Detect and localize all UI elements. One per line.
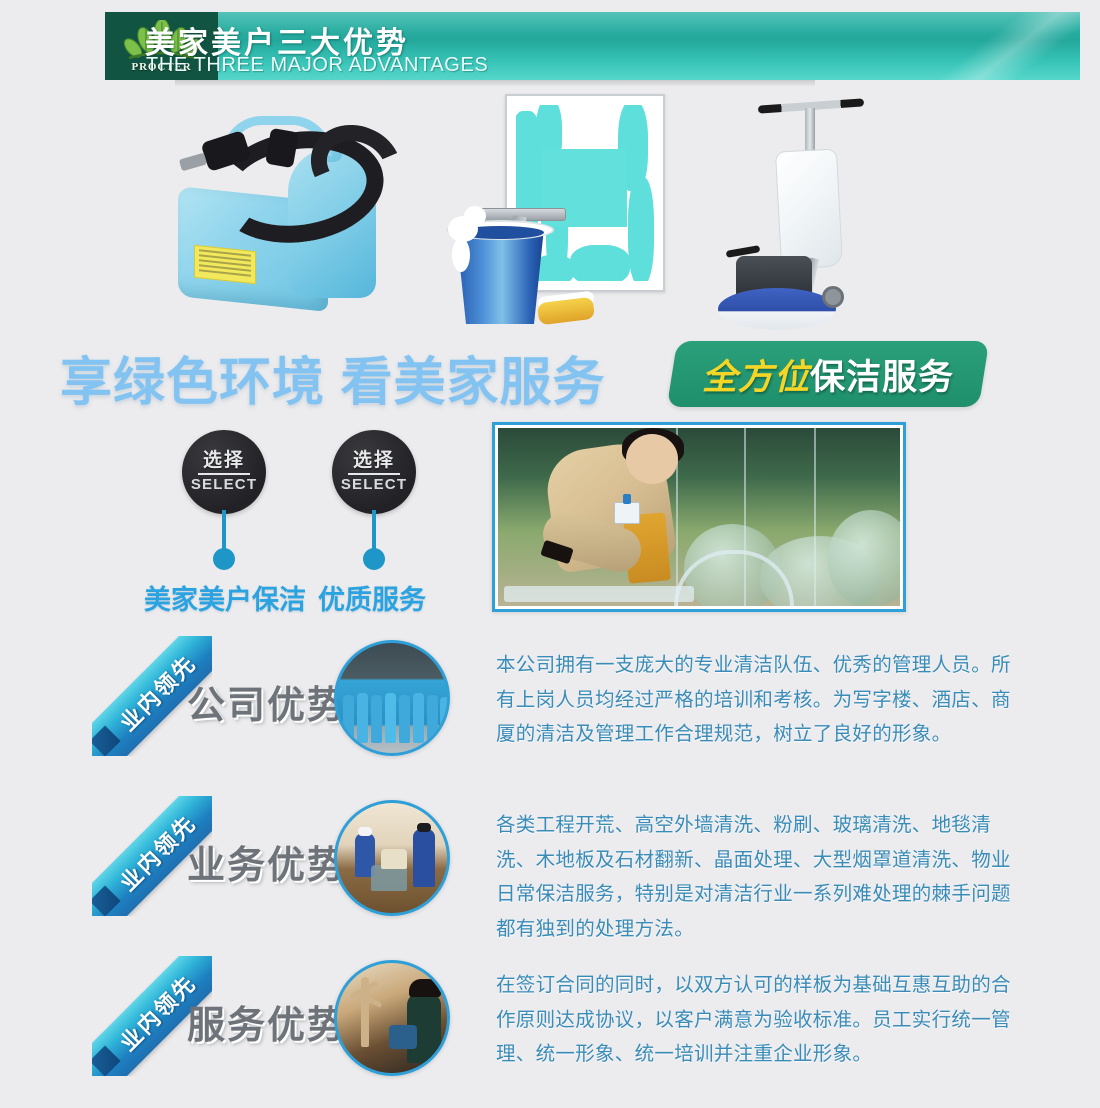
select-label-en: SELECT <box>341 476 407 493</box>
select-badge-circle[interactable]: 选择 SELECT <box>332 430 416 514</box>
advantage-title: 业务优势 <box>187 834 347 889</box>
indoor-cleaning-photo <box>334 800 450 916</box>
main-headline: 享绿色环境 看美家服务 <box>60 340 605 415</box>
ulv-sprayer-image <box>160 96 410 331</box>
glass-table <box>504 586 694 602</box>
service-badge: 全方位 保洁服务 <box>667 341 989 407</box>
badge-rest-text: 保洁服务 <box>810 349 954 400</box>
worker-badge-clip <box>623 494 631 504</box>
select-caption: 美家美户保洁 <box>144 578 306 617</box>
select-divider <box>348 473 400 475</box>
page-header: PROCTER 美家美户三大优势 THE THREE MAJOR ADVANTA… <box>0 0 1100 95</box>
window-squeegee-bucket-image <box>450 88 690 328</box>
polisher-solution-tank <box>775 148 843 269</box>
polisher-wheel <box>822 286 844 308</box>
worker-cleaning-glass-table-photo <box>492 422 906 612</box>
badge-highlight-text: 全方位 <box>702 349 810 400</box>
select-label-cn: 选择 <box>353 451 395 471</box>
floor-polisher-image <box>710 88 920 333</box>
worker-head <box>626 434 678 484</box>
advantage-title: 公司优势 <box>187 674 347 729</box>
polisher-pad-base <box>718 288 836 330</box>
worker-id-badge <box>614 502 640 524</box>
header-dropshadow <box>175 80 815 87</box>
advantage-description: 本公司拥有一支庞大的专业清洁队伍、优秀的管理人员。所有上岗人员均经过严格的培训和… <box>496 648 1012 752</box>
advantage-row-service: 业内领先 服务优势 在签订合同的同时，以双方认可的样板为基础互惠互助的合作原则达… <box>0 948 1100 1108</box>
advantage-description: 在签订合同的同时，以双方认可的样板为基础互惠互助的合作原则达成协议，以客户满意为… <box>496 968 1012 1072</box>
select-badge-circle[interactable]: 选择 SELECT <box>182 430 266 514</box>
select-pin-dot <box>213 548 235 570</box>
select-label-cn: 选择 <box>203 451 245 471</box>
sprayer-spec-label <box>194 245 256 285</box>
select-divider <box>198 473 250 475</box>
product-image-row <box>0 88 1100 338</box>
select-caption: 优质服务 <box>318 578 426 617</box>
sprayer-plug <box>179 153 207 172</box>
staff-lineup-photo <box>334 640 450 756</box>
advantage-title: 服务优势 <box>187 994 347 1049</box>
advantage-row-company: 业内领先 公司优势 本公司拥有一支庞大的专业清洁队伍、优秀的管理人员。所有上岗人… <box>0 628 1100 788</box>
select-pin-dot <box>363 548 385 570</box>
select-label-en: SELECT <box>191 476 257 493</box>
spray-cleaning-photo <box>334 960 450 1076</box>
advantage-row-business: 业内领先 业务优势 各类工程开荒、高空外墙清洗、粉刷、玻璃清洗、地毯清洗、木地板… <box>0 788 1100 948</box>
header-title-en: THE THREE MAJOR ADVANTAGES <box>146 54 488 77</box>
advantage-description: 各类工程开荒、高空外墙清洗、粉刷、玻璃清洗、地毯清洗、木地板及石材翻新、晶面处理… <box>496 808 1012 947</box>
